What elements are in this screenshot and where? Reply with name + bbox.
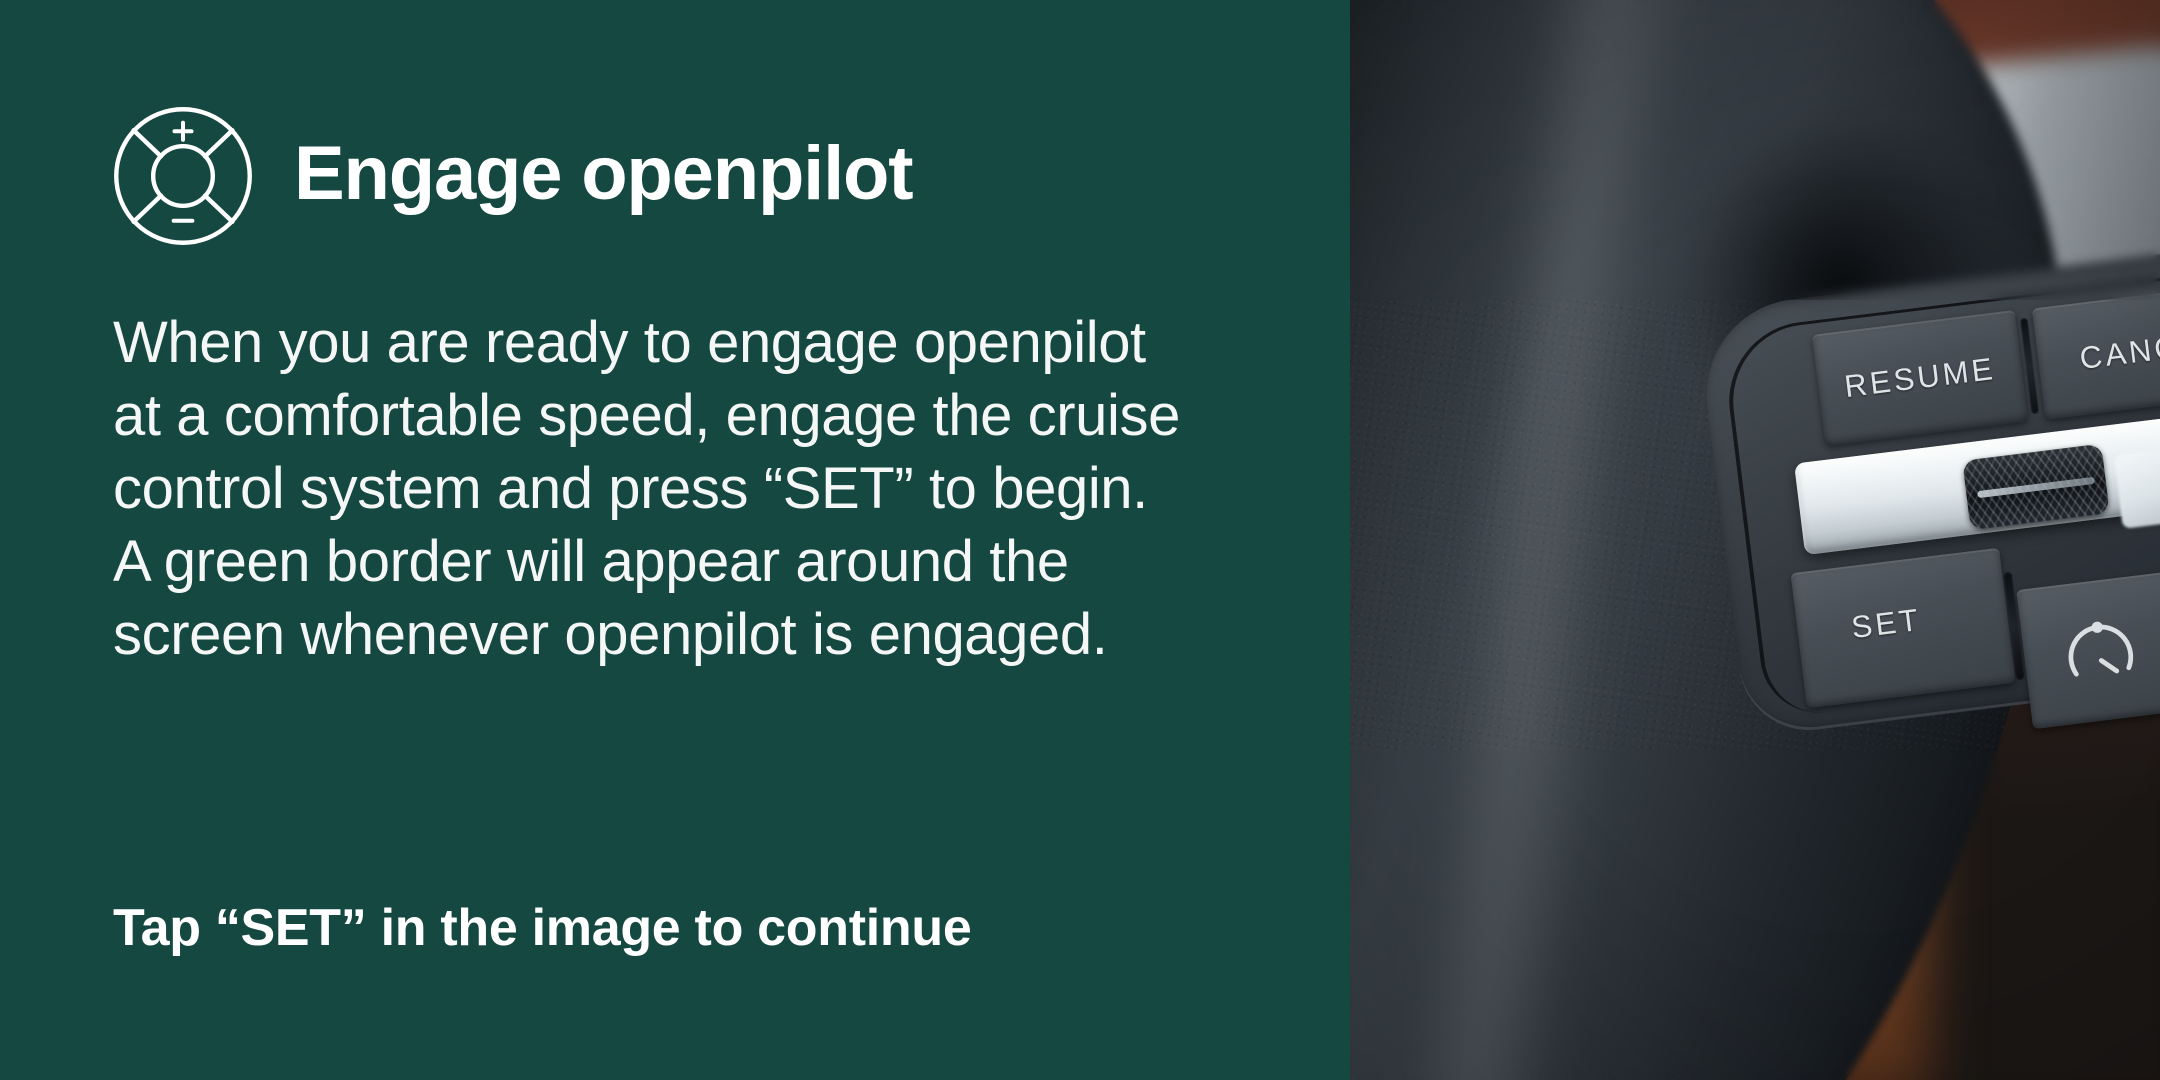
instruction-body-line: A green border will appear around the — [113, 525, 1273, 598]
set-button-label: SET — [1850, 602, 1924, 646]
cruise-control-icon — [112, 105, 254, 247]
instruction-body-line: When you are ready to engage openpilot — [113, 306, 1273, 379]
gap-distance-icon — [2051, 601, 2149, 699]
instruction-body-line: at a comfortable speed, engage the cruis… — [113, 379, 1273, 452]
resume-button-label: RESUME — [1842, 351, 1997, 405]
instruction-body-line: control system and press “SET” to begin. — [113, 452, 1273, 525]
page-title: Engage openpilot — [294, 136, 912, 216]
onboarding-screen: Engage openpilot When you are ready to e… — [0, 0, 2160, 1080]
instruction-body-line: screen whenever openpilot is engaged. — [113, 598, 1273, 671]
instruction-body: When you are ready to engage openpilot a… — [113, 306, 1273, 671]
set-button[interactable]: SET — [1790, 548, 2015, 709]
chrome-rocker-tip — [2114, 441, 2160, 529]
panel-header: Engage openpilot — [112, 105, 912, 247]
cancel-button-label: CANCEL — [2078, 324, 2160, 377]
steering-wheel-photo[interactable]: RESUME CANCEL SET — [1350, 0, 2160, 1080]
continue-instruction: Tap “SET” in the image to continue — [113, 898, 971, 958]
instruction-panel: Engage openpilot When you are ready to e… — [0, 0, 1350, 1080]
